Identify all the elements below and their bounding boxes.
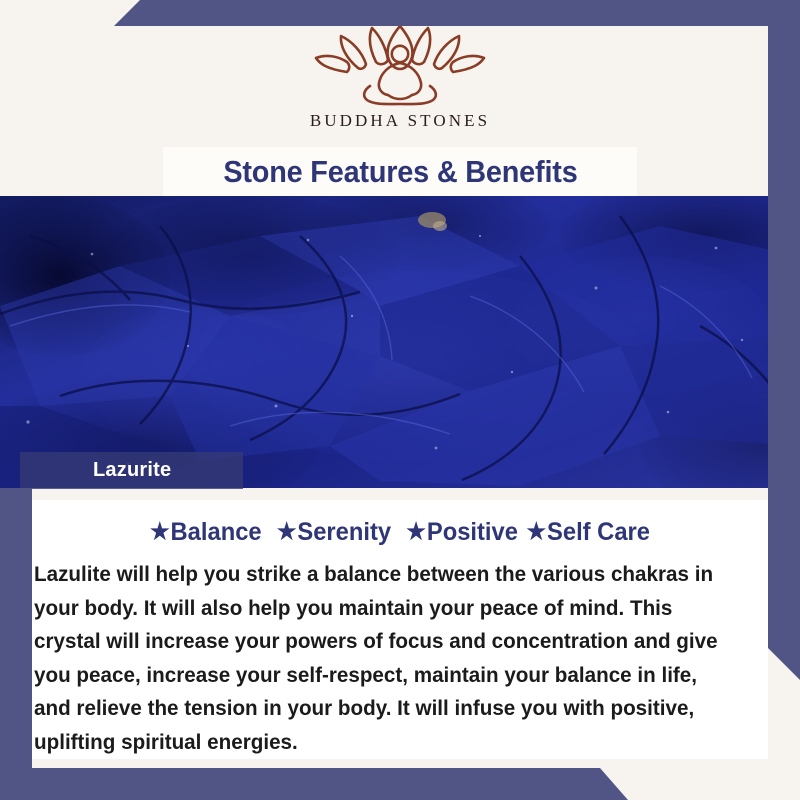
keyword-list: ★Balance★Serenity★Positive★Self Care — [50, 518, 749, 547]
keyword-item-1: ★Serenity — [277, 518, 400, 546]
lazurite-stone-photo — [0, 196, 800, 488]
stone-name-label: Lazurite — [20, 459, 171, 482]
keyword-item-3: ★Self Care — [526, 518, 650, 546]
stone-name-banner: Lazurite — [20, 452, 243, 489]
star-icon: ★ — [526, 518, 546, 544]
star-icon: ★ — [277, 518, 297, 544]
keyword-label-balance: Balance — [171, 518, 262, 546]
panel-top-strip — [32, 488, 768, 500]
keyword-label-self-care: Self Care — [547, 518, 650, 546]
keyword-item-0: ★Balance — [150, 518, 270, 546]
star-icon: ★ — [150, 518, 170, 544]
frame-left-bar — [0, 488, 32, 800]
keyword-item-2: ★Positive — [406, 518, 526, 546]
lotus-meditation-figure-icon — [310, 24, 490, 106]
brand-logo: BUDDHA STONES — [0, 24, 800, 131]
frame-bottom-bar — [0, 768, 800, 800]
stone-benefits-poster: BUDDHA STONES Stone Features & Benefits — [0, 0, 800, 800]
benefits-panel: ★Balance★Serenity★Positive★Self Care Laz… — [32, 488, 768, 759]
description-text: Lazulite will help you strike a balance … — [34, 558, 723, 759]
title-ribbon: Stone Features & Benefits — [163, 147, 637, 196]
brand-name: BUDDHA STONES — [0, 111, 800, 131]
keyword-label-serenity: Serenity — [297, 518, 391, 546]
star-icon: ★ — [406, 518, 426, 544]
keyword-label-positive: Positive — [427, 518, 518, 546]
page-title: Stone Features & Benefits — [223, 154, 577, 190]
